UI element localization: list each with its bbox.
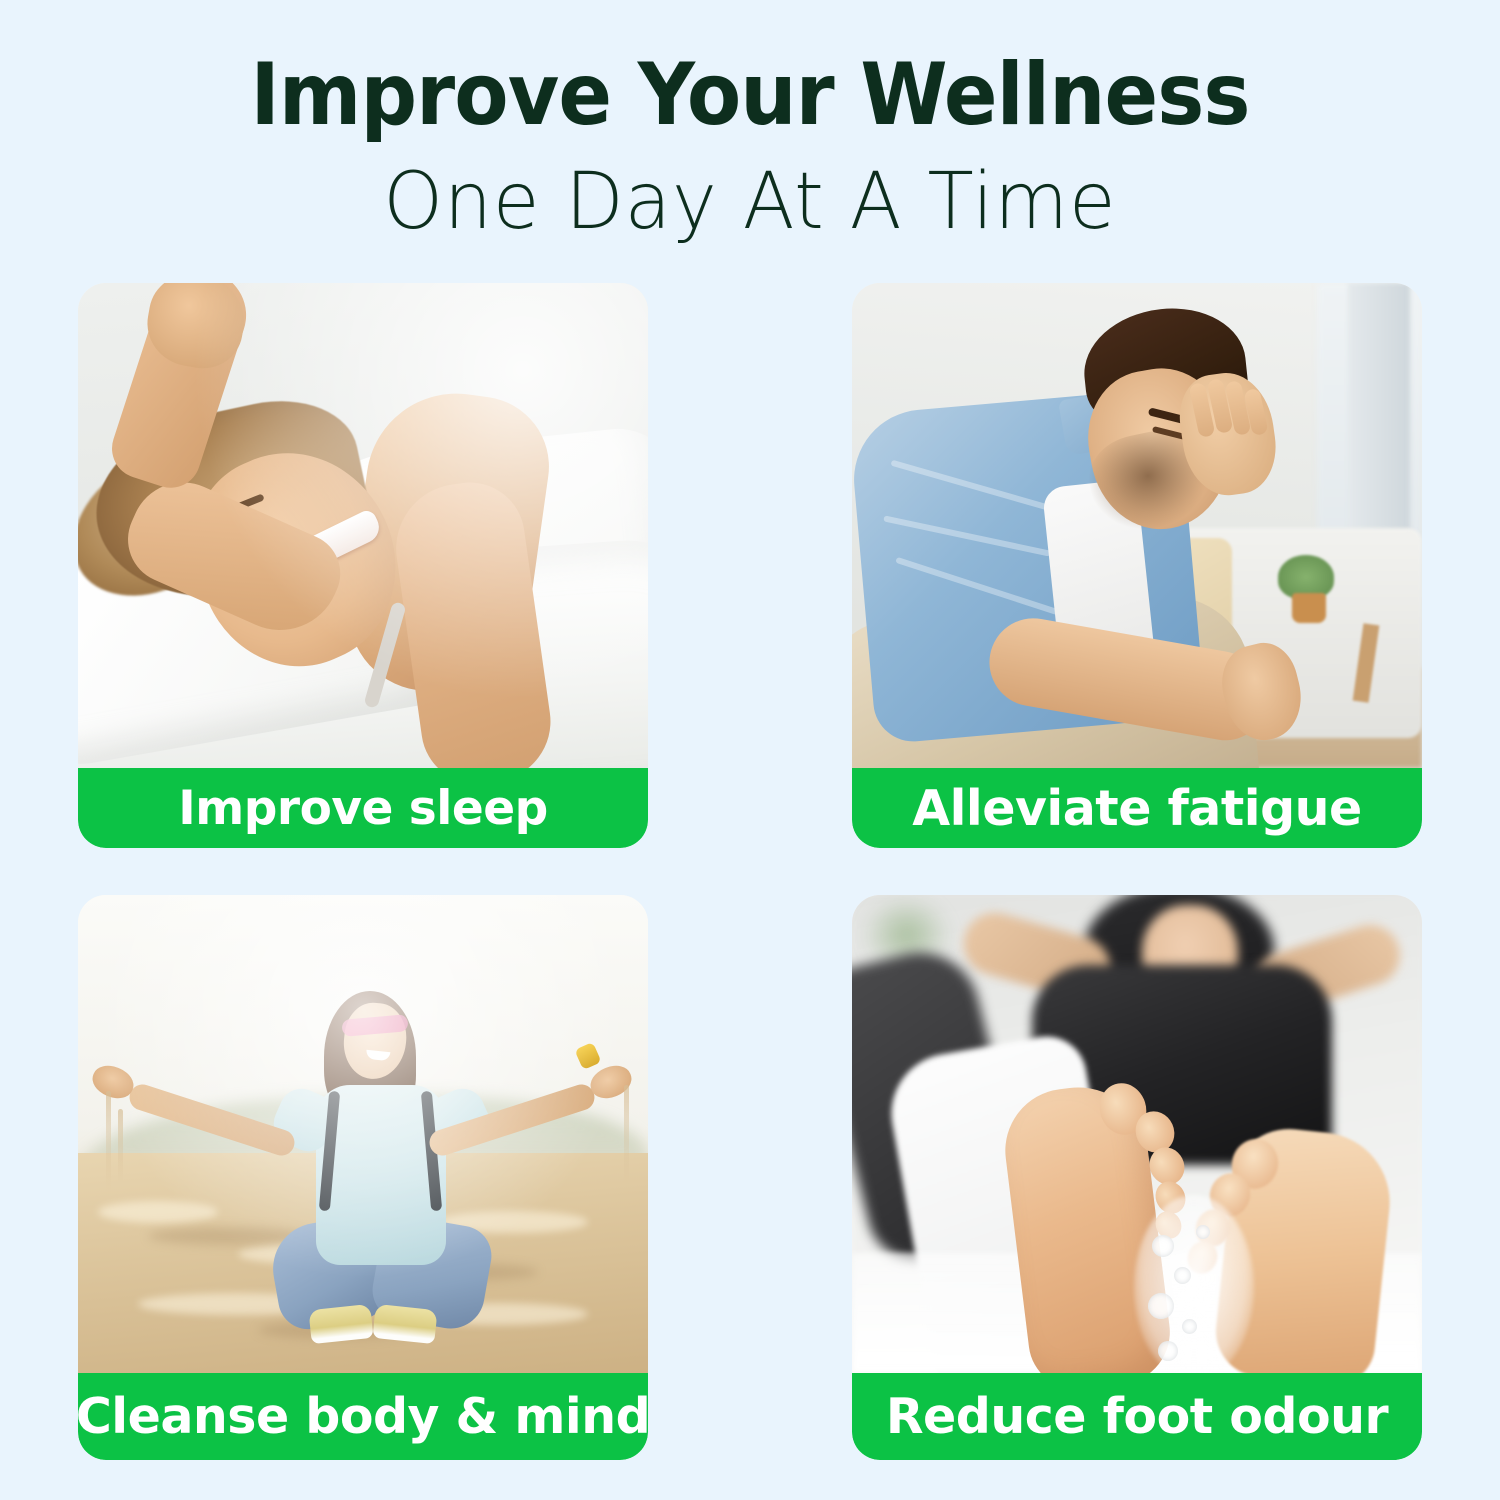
page-header: Improve Your Wellness One Day At A Time (0, 0, 1500, 265)
benefit-image-improve-sleep (78, 283, 648, 768)
benefit-label-alleviate-fatigue: Alleviate fatigue (912, 784, 1362, 833)
benefit-image-cleanse-body-mind (78, 895, 648, 1373)
benefit-label-cleanse-body-mind: Cleanse body & mind (78, 1392, 648, 1441)
benefit-label-reduce-foot-odour: Reduce foot odour (886, 1392, 1388, 1441)
benefit-card-reduce-foot-odour[interactable]: Reduce foot odour (852, 895, 1422, 1460)
benefit-label-bar-alleviate-fatigue: Alleviate fatigue (852, 768, 1422, 848)
benefit-card-alleviate-fatigue[interactable]: Alleviate fatigue (852, 283, 1422, 848)
benefit-card-improve-sleep[interactable]: Improve sleep (78, 283, 648, 848)
benefit-label-bar-reduce-foot-odour: Reduce foot odour (852, 1373, 1422, 1460)
benefit-image-reduce-foot-odour (852, 895, 1422, 1373)
benefit-image-alleviate-fatigue (852, 283, 1422, 768)
benefit-card-cleanse-body-mind[interactable]: Cleanse body & mind (78, 895, 648, 1460)
page-subtitle: One Day At A Time (23, 162, 1478, 244)
page-title: Improve Your Wellness (60, 52, 1440, 138)
benefits-grid: Improve sleep (78, 283, 1422, 1460)
benefit-label-bar-cleanse-body-mind: Cleanse body & mind (78, 1373, 648, 1460)
benefit-label-bar-improve-sleep: Improve sleep (78, 768, 648, 848)
benefit-label-improve-sleep: Improve sleep (178, 785, 547, 832)
